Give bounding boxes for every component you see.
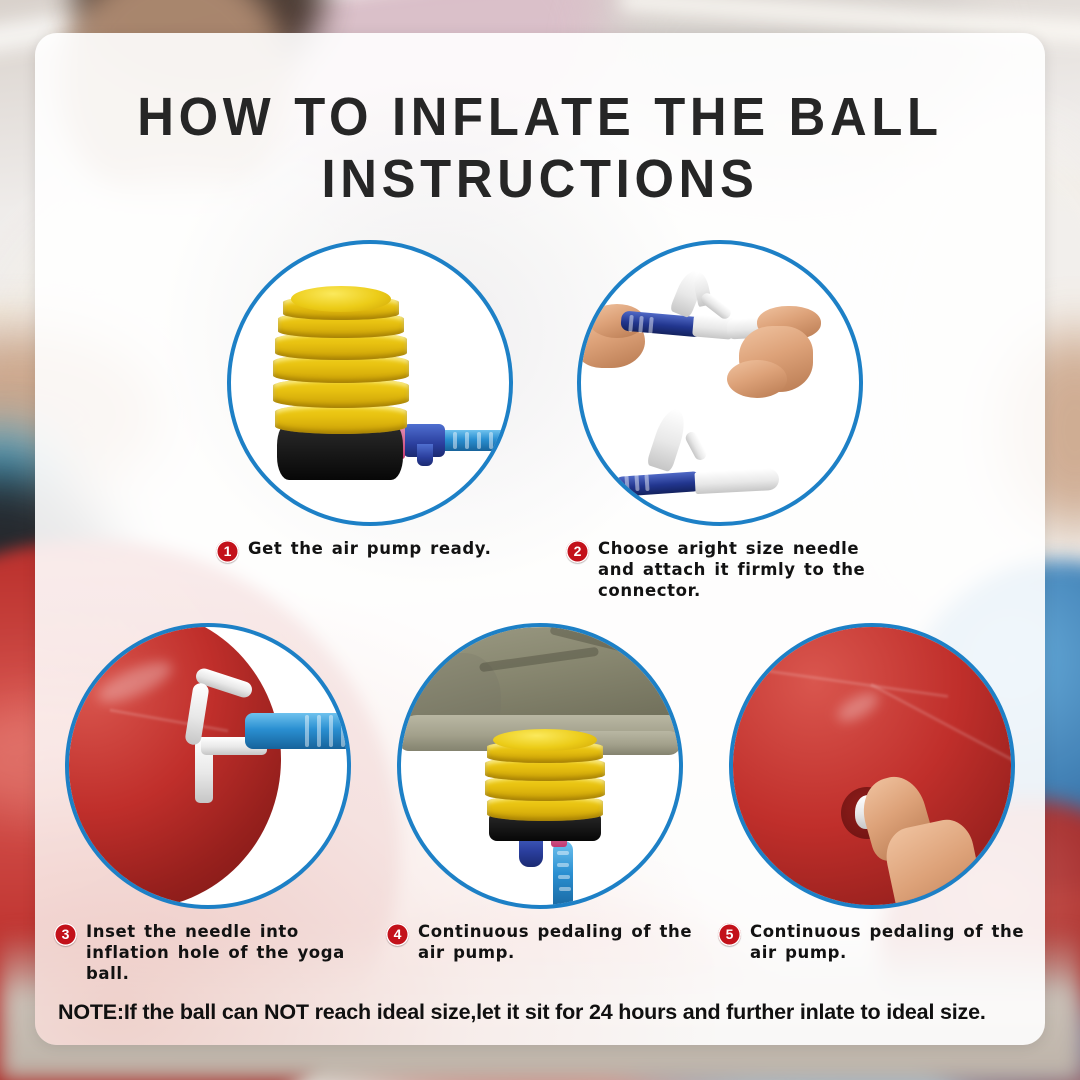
steps-container: 1 Get the air pump ready. — [35, 240, 1045, 984]
title-line-1: HOW TO INFLATE THE BALL — [32, 86, 1047, 148]
step-4-badge: 4 — [386, 923, 409, 946]
step-1-image — [227, 240, 513, 526]
step-3-badge: 3 — [54, 923, 77, 946]
step-5: 5 Continuous pedaling of the air pump. — [712, 623, 1032, 984]
finger-plug-illustration — [733, 627, 1011, 905]
step-2-image — [577, 240, 863, 526]
shoe-pedaling-illustration — [401, 627, 679, 905]
step-2-text: Choose aright size needle and attach it … — [598, 538, 874, 601]
step-4-caption: 4 Continuous pedaling of the air pump. — [380, 921, 700, 963]
foot-pump-illustration — [231, 244, 509, 522]
step-2-badge: 2 — [566, 540, 589, 563]
needle-in-ball-illustration — [69, 627, 347, 905]
step-3-text: Inset the needle into inflation hole of … — [86, 921, 362, 984]
step-3: 3 Inset the needle into inflation hole o… — [48, 623, 368, 984]
step-3-image — [65, 623, 351, 909]
step-2: 2 Choose aright size needle and attach i… — [560, 240, 880, 601]
step-4-text: Continuous pedaling of the air pump. — [418, 921, 694, 963]
step-1-badge: 1 — [216, 540, 239, 563]
step-5-image — [729, 623, 1015, 909]
step-1-caption: 1 Get the air pump ready. — [210, 538, 530, 563]
step-5-text: Continuous pedaling of the air pump. — [750, 921, 1026, 963]
step-5-badge: 5 — [718, 923, 741, 946]
infographic-stage: HOW TO INFLATE THE BALL INSTRUCTIONS — [0, 0, 1080, 1080]
steps-row-top: 1 Get the air pump ready. — [35, 240, 1045, 601]
page-title: HOW TO INFLATE THE BALL INSTRUCTIONS — [0, 86, 1080, 210]
step-5-caption: 5 Continuous pedaling of the air pump. — [712, 921, 1032, 963]
step-4-image — [397, 623, 683, 909]
note-text: NOTE:If the ball can NOT reach ideal siz… — [58, 1000, 1028, 1025]
step-1-text: Get the air pump ready. — [248, 538, 492, 563]
step-3-caption: 3 Inset the needle into inflation hole o… — [48, 921, 368, 984]
step-2-caption: 2 Choose aright size needle and attach i… — [560, 538, 880, 601]
title-line-2: INSTRUCTIONS — [32, 148, 1047, 210]
step-1: 1 Get the air pump ready. — [210, 240, 530, 601]
step-4: 4 Continuous pedaling of the air pump. — [380, 623, 700, 984]
needle-attach-illustration — [581, 244, 859, 522]
steps-row-bottom: 3 Inset the needle into inflation hole o… — [35, 623, 1045, 984]
